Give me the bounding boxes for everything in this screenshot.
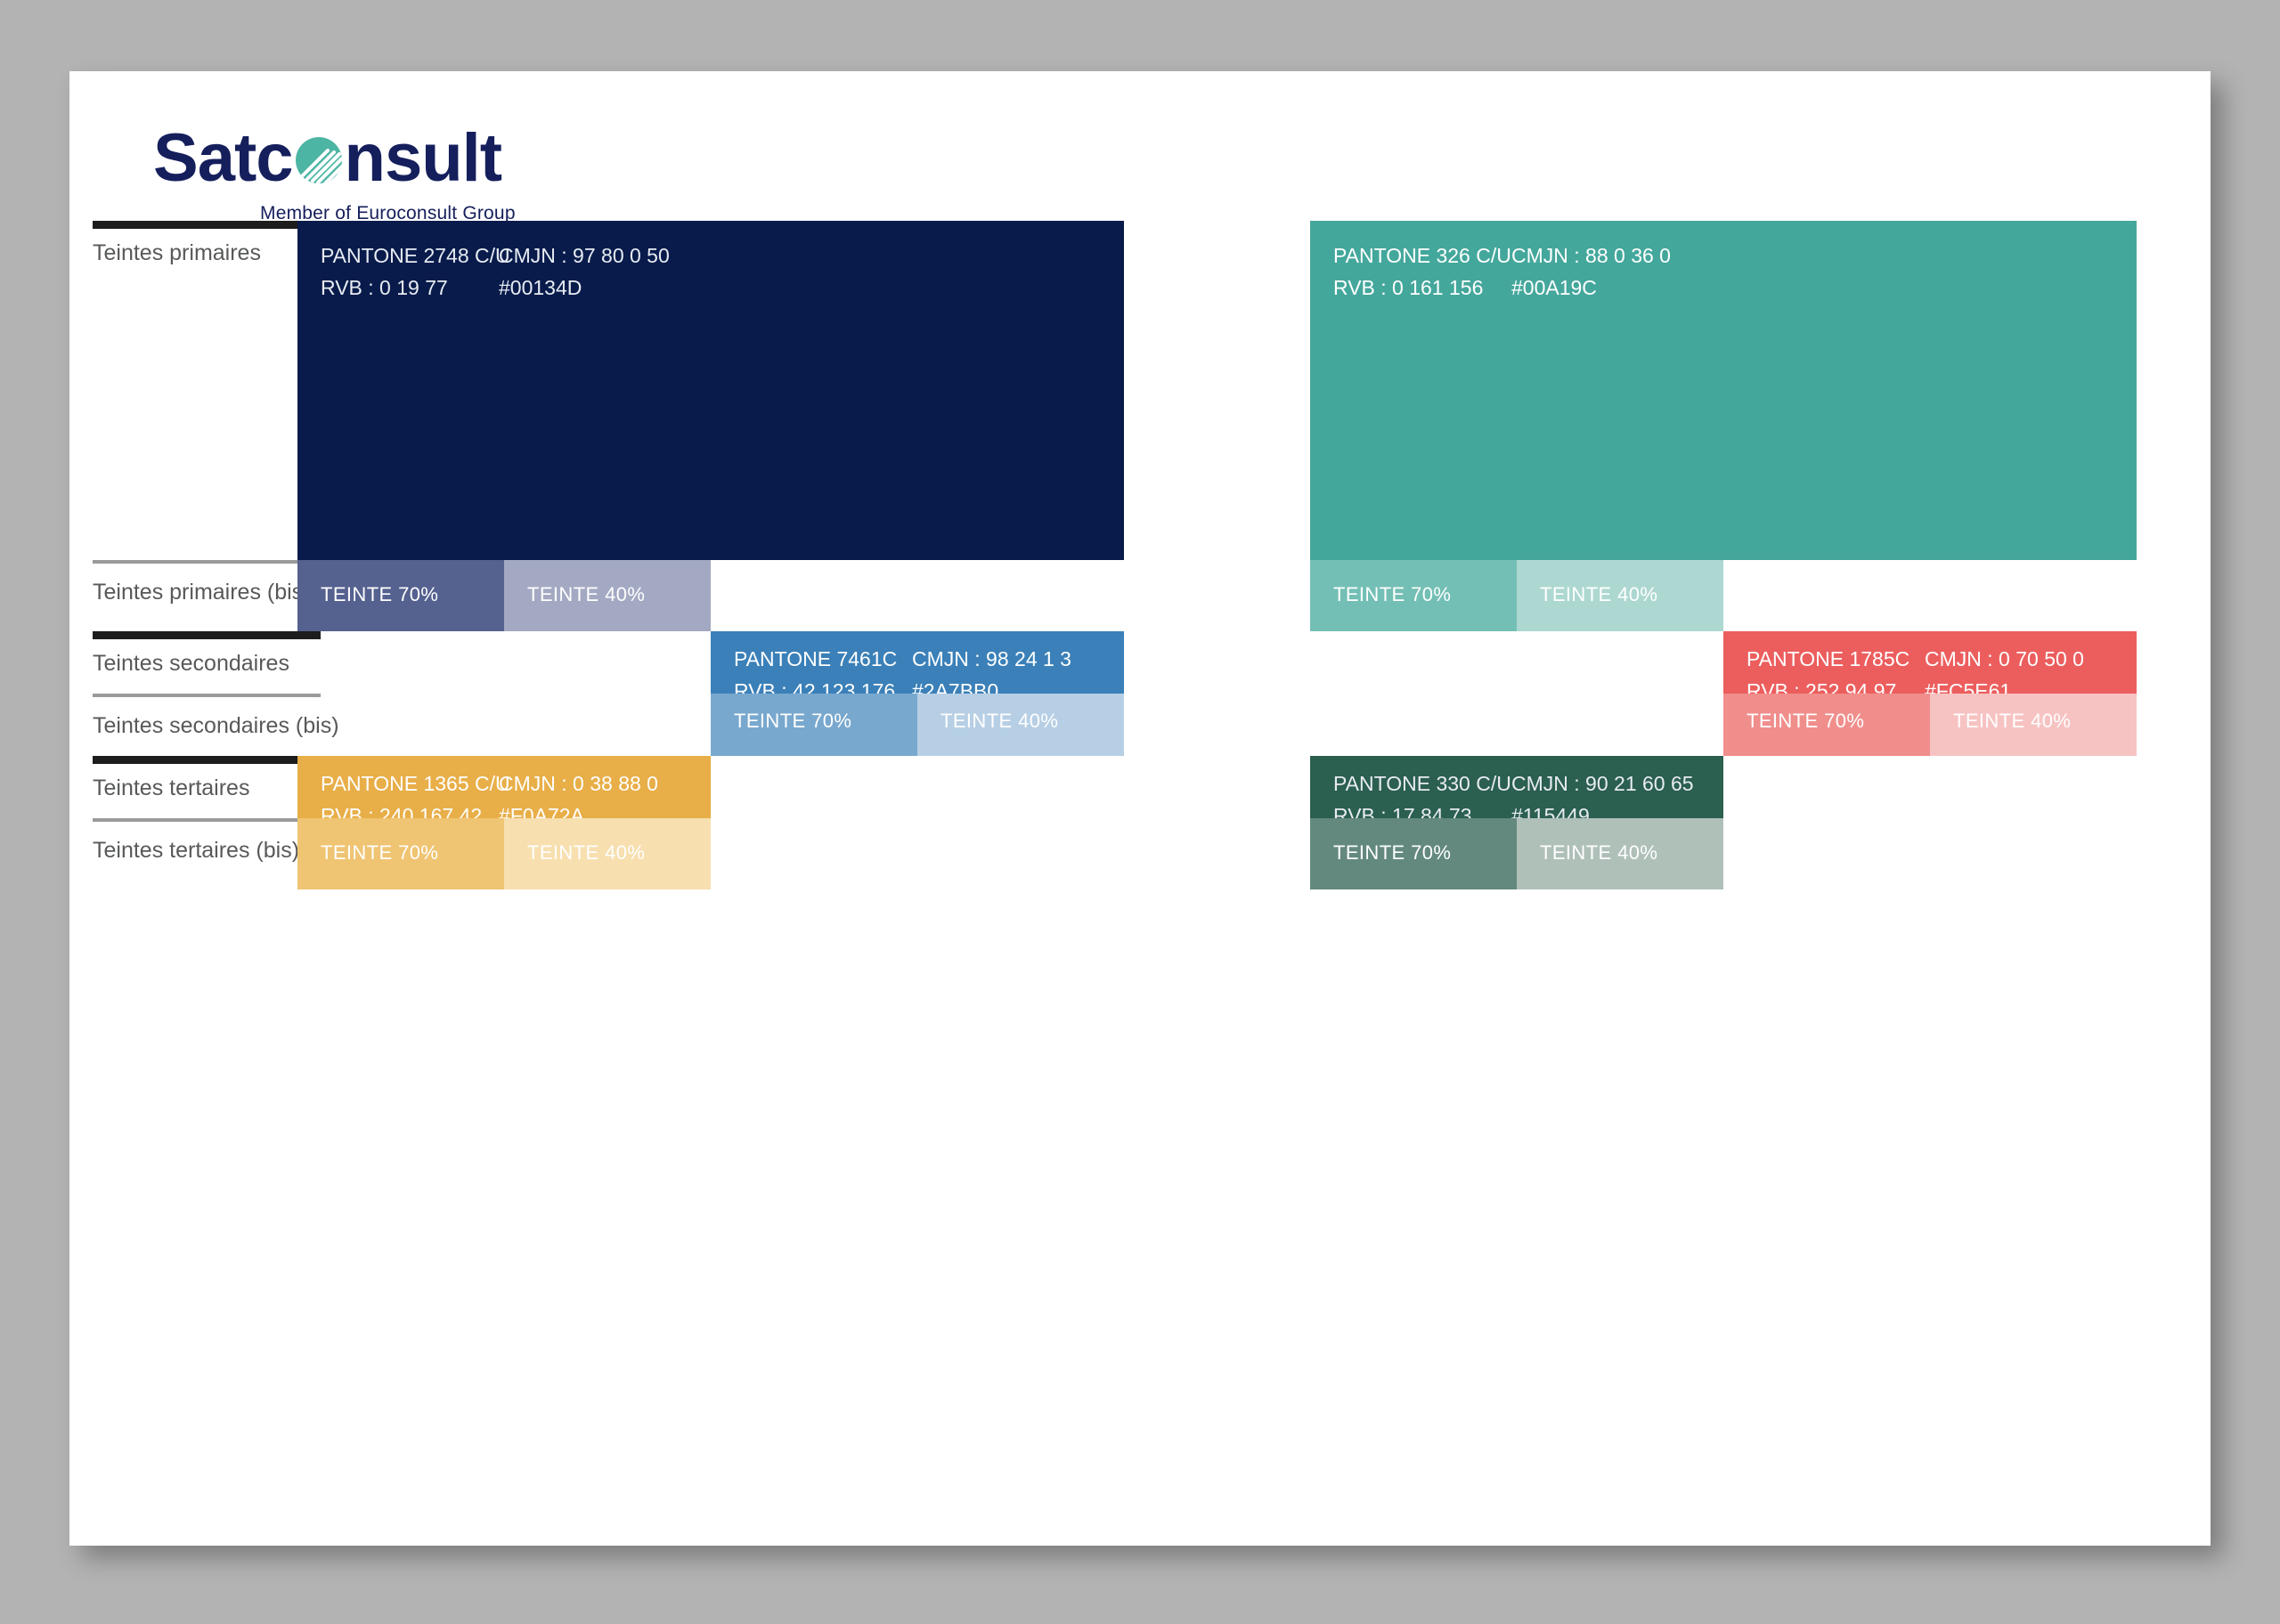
pantone-value: PANTONE 7461C	[734, 644, 912, 676]
tint-label: TEINTE 70%	[1333, 583, 1451, 606]
rvb-value: RVB : 0 19 77	[321, 272, 499, 304]
hex-value: #00A19C	[1511, 272, 1707, 304]
tint-label: TEINTE 40%	[1540, 841, 1657, 865]
swatch-secondary-blue-tint70[interactable]: TEINTE 70%	[711, 694, 917, 756]
swatch-primary-navy-tint40[interactable]: TEINTE 40%	[504, 560, 711, 631]
row-rule-secondaires-bis	[93, 694, 321, 697]
row-label-primaires: Teintes primaires	[93, 240, 261, 266]
row-label-primaires-bis: Teintes primaires (bis)	[93, 580, 311, 605]
row-label-tertaires-bis: Teintes tertaires (bis)	[93, 838, 299, 864]
row-rule-secondaires	[93, 631, 321, 639]
tint-label: TEINTE 70%	[1333, 841, 1451, 865]
swatch-primary-teal-tint40[interactable]: TEINTE 40%	[1517, 560, 1723, 631]
cmjn-value: CMJN : 88 0 36 0	[1511, 240, 1707, 272]
swatch-tertiary-green[interactable]: PANTONE 330 C/U RVB : 17 84 73 CMJN : 90…	[1310, 756, 1723, 818]
hex-value: #00134D	[499, 272, 695, 304]
document-sheet: Satc nsult Member of Euroconsult Group	[69, 71, 2211, 1546]
pantone-value: PANTONE 1785C	[1747, 644, 1925, 676]
tint-label: TEINTE 70%	[321, 841, 438, 865]
tint-label: TEINTE 40%	[527, 841, 645, 865]
swatch-primary-navy-tint70[interactable]: TEINTE 70%	[297, 560, 504, 631]
row-rule-primaires	[93, 221, 321, 229]
swatch-primary-teal[interactable]: PANTONE 326 C/U RVB : 0 161 156 CMJN : 8…	[1310, 221, 2137, 560]
swatch-secondary-blue-tint40[interactable]: TEINTE 40%	[917, 694, 1124, 756]
pantone-value: PANTONE 1365 C/U	[321, 768, 499, 800]
tint-label: TEINTE 70%	[1747, 710, 1864, 733]
rvb-value: RVB : 0 161 156	[1333, 272, 1511, 304]
pantone-value: PANTONE 326 C/U	[1333, 240, 1511, 272]
pantone-value: PANTONE 2748 C/U	[321, 240, 499, 272]
cmjn-value: CMJN : 97 80 0 50	[499, 240, 695, 272]
tint-label: TEINTE 70%	[321, 583, 438, 606]
swatch-secondary-coral-tint40[interactable]: TEINTE 40%	[1930, 694, 2137, 756]
row-label-secondaires-bis: Teintes secondaires (bis)	[93, 713, 339, 739]
pantone-value: PANTONE 330 C/U	[1333, 768, 1511, 800]
cmjn-value: CMJN : 98 24 1 3	[912, 644, 1108, 676]
row-rule-tertaires-bis	[93, 818, 321, 822]
cmjn-value: CMJN : 0 70 50 0	[1925, 644, 2121, 676]
tint-label: TEINTE 40%	[1953, 710, 2071, 733]
swatch-info: PANTONE 326 C/U RVB : 0 161 156 CMJN : 8…	[1333, 240, 1707, 304]
tint-label: TEINTE 40%	[1540, 583, 1657, 606]
tint-label: TEINTE 40%	[940, 710, 1058, 733]
swatch-tertiary-green-tint70[interactable]: TEINTE 70%	[1310, 818, 1517, 889]
swatch-tertiary-gold[interactable]: PANTONE 1365 C/U RVB : 240 167 42 CMJN :…	[297, 756, 711, 818]
swatch-tertiary-gold-tint70[interactable]: TEINTE 70%	[297, 818, 504, 889]
swatch-secondary-blue[interactable]: PANTONE 7461C RVB : 42 123 176 CMJN : 98…	[711, 631, 1124, 694]
swatch-secondary-coral-tint70[interactable]: TEINTE 70%	[1723, 694, 1930, 756]
swatch-secondary-coral[interactable]: PANTONE 1785C RVB : 252 94 97 CMJN : 0 7…	[1723, 631, 2137, 694]
tint-label: TEINTE 70%	[734, 710, 851, 733]
swatch-primary-teal-tint70[interactable]: TEINTE 70%	[1310, 560, 1517, 631]
row-label-tertaires: Teintes tertaires	[93, 775, 249, 801]
row-rule-tertaires	[93, 756, 321, 764]
row-rule-primaires-bis	[93, 560, 321, 564]
row-label-secondaires: Teintes secondaires	[93, 651, 289, 677]
swatch-tertiary-gold-tint40[interactable]: TEINTE 40%	[504, 818, 711, 889]
cmjn-value: CMJN : 90 21 60 65	[1511, 768, 1707, 800]
tint-label: TEINTE 40%	[527, 583, 645, 606]
swatch-info: PANTONE 2748 C/U RVB : 0 19 77 CMJN : 97…	[321, 240, 695, 304]
swatch-primary-navy[interactable]: PANTONE 2748 C/U RVB : 0 19 77 CMJN : 97…	[297, 221, 1124, 560]
color-palette-grid: Teintes primaires Teintes primaires (bis…	[69, 71, 2211, 1546]
cmjn-value: CMJN : 0 38 88 0	[499, 768, 695, 800]
swatch-tertiary-green-tint40[interactable]: TEINTE 40%	[1517, 818, 1723, 889]
